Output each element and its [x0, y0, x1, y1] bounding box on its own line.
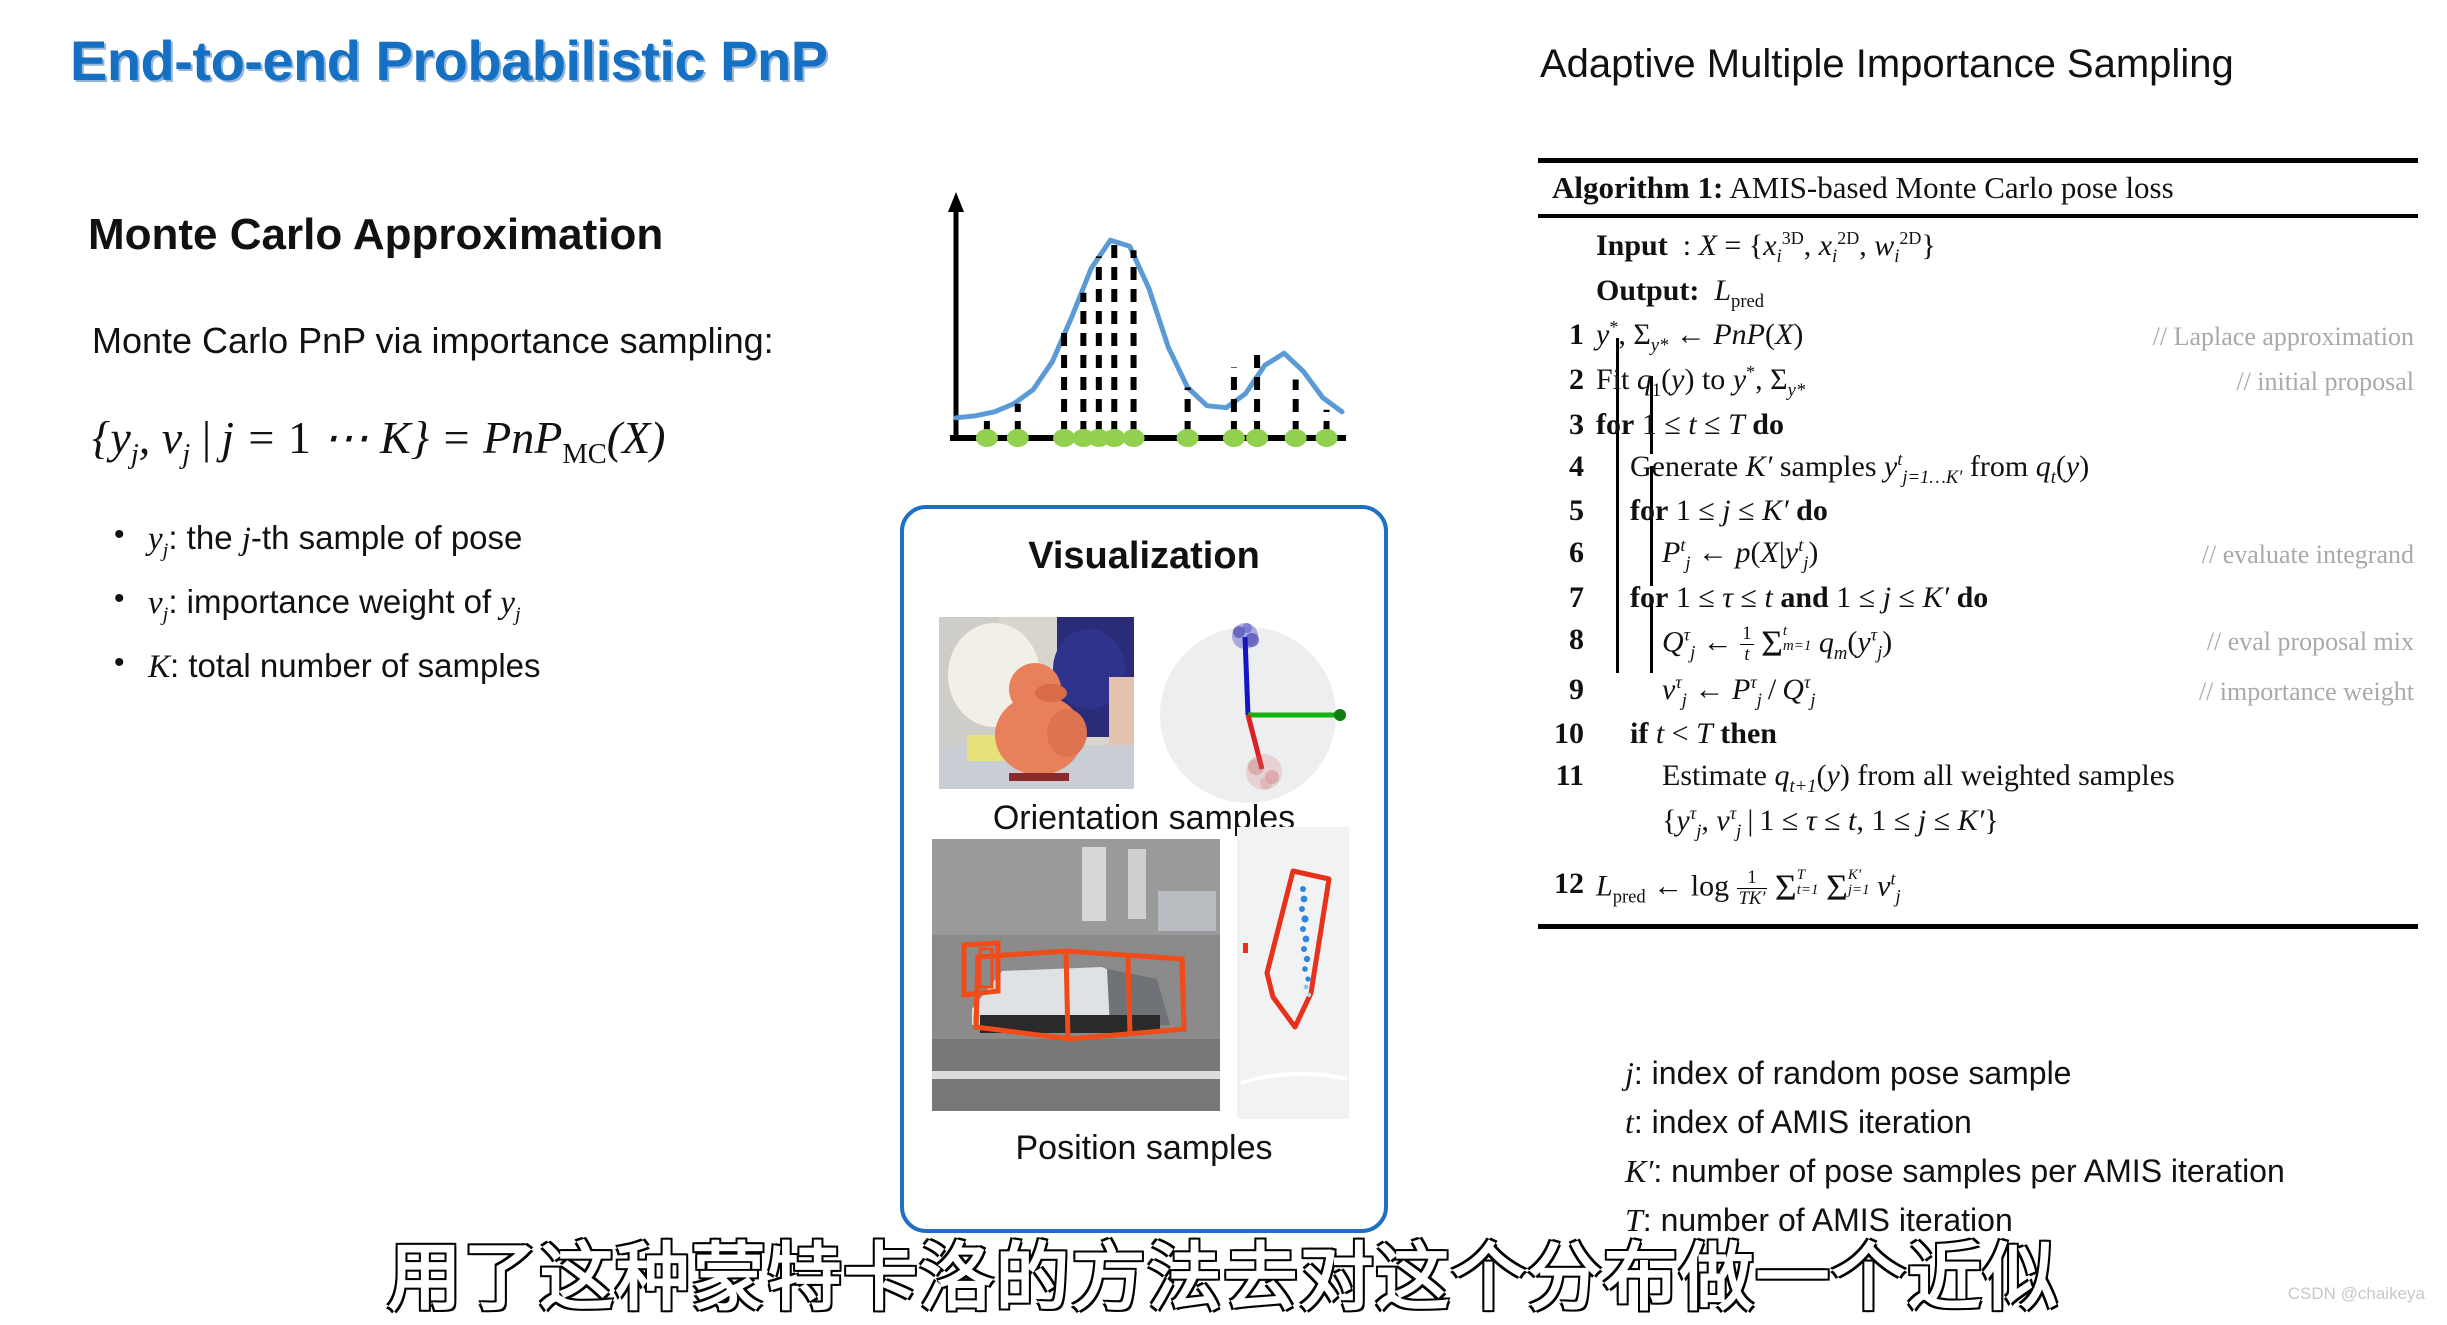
bullet-v-weight: vj: importance weight of yj: [110, 584, 541, 626]
orientation-sample-cluster-blue: [1232, 623, 1259, 649]
algo-line-5: 5 for 1 ≤ j ≤ K′ do: [1538, 491, 2418, 533]
algo-line-6: 6 Ptj ← p(X|ytj) // evaluate integrand: [1538, 533, 2418, 578]
algo-line-2-comment: // initial proposal: [2236, 366, 2414, 398]
algo-line-3: 3 for 1 ≤ t ≤ T do: [1538, 405, 2418, 447]
algo-input-label: Input: [1596, 229, 1668, 262]
algo-line-7: 7 for 1 ≤ τ ≤ t and 1 ≤ j ≤ K′ do: [1538, 578, 2418, 620]
algo-line-11-continuation: {yτj, vτj | 1 ≤ τ ≤ t, 1 ≤ j ≤ K′}: [1538, 801, 2418, 846]
sample-dot: [1246, 429, 1268, 447]
legend-item-t: t: index of AMIS iteration: [1625, 1104, 2285, 1141]
algo-line-9-comment: // importance weight: [2199, 676, 2414, 708]
sample-dot: [1177, 429, 1199, 447]
distribution-plot: [930, 190, 1350, 450]
algo-line-8-comment: // eval proposal mix: [2207, 626, 2414, 658]
algo-line-4-number: 4: [1538, 449, 1596, 486]
sample-dot: [1103, 429, 1125, 447]
sample-dot: [1285, 429, 1307, 447]
algo-line-9-number: 9: [1538, 672, 1596, 709]
algo-bottom-rule: [1538, 924, 2418, 929]
algo-line-2: 2 Fit q1(y) to y*, Σy* // initial propos…: [1538, 360, 2418, 405]
algorithm-caption: Algorithm 1: AMIS-based Monte Carlo pose…: [1538, 163, 2418, 214]
algo-line-7-number: 7: [1538, 580, 1596, 617]
algo-line-11-number: 11: [1538, 758, 1596, 795]
sample-stem-group: [987, 242, 1327, 434]
algo-output-label: Output:: [1596, 274, 1699, 307]
sample-dot: [1123, 429, 1145, 447]
algorithm-lines: Input : X = {xi3D, xi2D, wi2D} Output: L…: [1538, 218, 2418, 924]
visualization-card: Visualization: [900, 505, 1388, 1233]
algo-line-10: 10 if t < T then: [1538, 714, 2418, 756]
sample-dot: [1053, 429, 1075, 447]
algo-line-3-number: 3: [1538, 407, 1596, 444]
algo-line-10-number: 10: [1538, 716, 1596, 753]
algo-line-6-number: 6: [1538, 535, 1596, 572]
position-birdseye-view: [1237, 827, 1349, 1119]
plot-y-axis-arrow: [948, 192, 964, 212]
bullet-k-total: K: total number of samples: [110, 648, 541, 685]
orientation-sphere: [1144, 619, 1359, 814]
algo-line-2-number: 2: [1538, 362, 1596, 399]
axis-y-endpoint: [1334, 709, 1346, 721]
algo-line-5-number: 5: [1538, 493, 1596, 530]
algo-line-4: 4 Generate K′ samples ytj=1…K′ from qt(y…: [1538, 447, 2418, 492]
algo-line-12: 12 Lpred ← log 1TK′ ΣTt=1 ΣK′j=1 vtj: [1538, 864, 2418, 914]
watermark: CSDN @chaikeya: [2288, 1284, 2425, 1304]
car-silhouette: [972, 967, 1170, 1033]
position-samples-label: Position samples: [904, 1129, 1384, 1168]
bullet-y-sample: yj: the j-th sample of pose: [110, 520, 541, 562]
monte-carlo-bullet-list: yj: the j-th sample of pose vj: importan…: [110, 520, 541, 707]
visualization-title: Visualization: [904, 535, 1384, 578]
amis-heading: Adaptive Multiple Importance Sampling: [1540, 42, 2234, 87]
algorithm-caption-text: AMIS-based Monte Carlo pose loss: [1729, 170, 2173, 205]
sample-dot: [976, 429, 998, 447]
density-curve: [956, 240, 1342, 418]
position-input-photo: [932, 839, 1220, 1111]
algo-line-6-comment: // evaluate integrand: [2202, 539, 2414, 571]
orientation-sample-cluster-red: [1246, 754, 1282, 790]
subtitle-caption: 用了这种蒙特卡洛的方法去对这个分布做一个近似: [0, 1218, 2447, 1325]
algo-line-9: 9 vτj ← Pτj / Qτj // importance weight: [1538, 670, 2418, 715]
algo-line-1: 1 y*, Σy* ← PnP(X) // Laplace approximat…: [1538, 315, 2418, 360]
algo-line-8-number: 8: [1538, 622, 1596, 659]
orientation-input-photo: [939, 617, 1134, 789]
sample-dot: [1007, 429, 1029, 447]
algorithm-caption-label: Algorithm 1:: [1552, 170, 1723, 205]
legend-item-j: j: index of random pose sample: [1625, 1055, 2285, 1092]
algo-input-row: Input : X = {xi3D, xi2D, wi2D}: [1538, 226, 2418, 271]
monte-carlo-formula: {yj, vj | j = 1 ⋯ K} = PnPMC(X): [92, 410, 666, 471]
algo-output-row: Output: Lpred: [1538, 271, 2418, 316]
algo-line-11: 11 Estimate qt+1(y) from all weighted sa…: [1538, 756, 2418, 801]
sample-dot: [1223, 429, 1245, 447]
monte-carlo-heading: Monte Carlo Approximation: [88, 210, 663, 260]
algo-line-1-comment: // Laplace approximation: [2153, 321, 2414, 353]
algo-line-12-number: 12: [1538, 866, 1596, 903]
sample-dot: [1316, 429, 1338, 447]
algorithm-box: Algorithm 1: AMIS-based Monte Carlo pose…: [1538, 158, 2418, 929]
legend-item-kprime: K′: number of pose samples per AMIS iter…: [1625, 1153, 2285, 1190]
algo-line-8: 8 Qτj ← 1t Σtm=1 qm(yτj) // eval proposa…: [1538, 620, 2418, 670]
algo-line-1-number: 1: [1538, 317, 1596, 354]
monte-carlo-lead-text: Monte Carlo PnP via importance sampling:: [92, 320, 774, 362]
page-title: End-to-end Probabilistic PnP: [70, 28, 828, 93]
